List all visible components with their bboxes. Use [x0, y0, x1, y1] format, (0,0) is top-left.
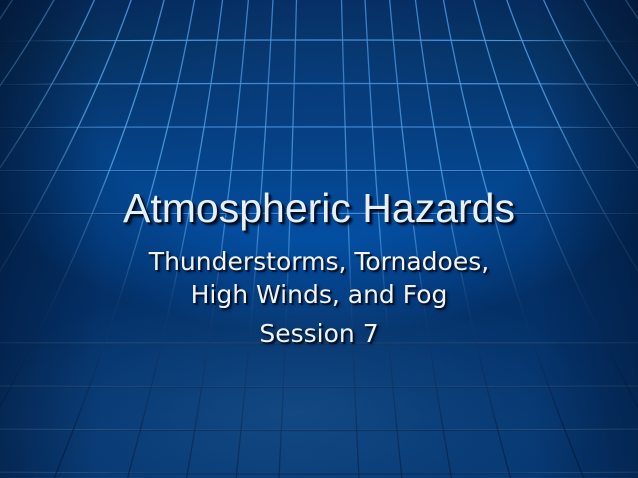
slide-subtitle-line-1: Thunderstorms, Tornadoes, — [0, 245, 638, 278]
slide-title: Atmospheric Hazards — [0, 183, 638, 233]
slide-text-block: Atmospheric Hazards Thunderstorms, Torna… — [0, 183, 638, 350]
slide-subtitle-line-2: High Winds, and Fog — [0, 278, 638, 311]
title-slide: Atmospheric Hazards Thunderstorms, Torna… — [0, 0, 638, 478]
slide-session-label: Session 7 — [0, 317, 638, 350]
slide-subtitle-block: Thunderstorms, Tornadoes, High Winds, an… — [0, 245, 638, 350]
